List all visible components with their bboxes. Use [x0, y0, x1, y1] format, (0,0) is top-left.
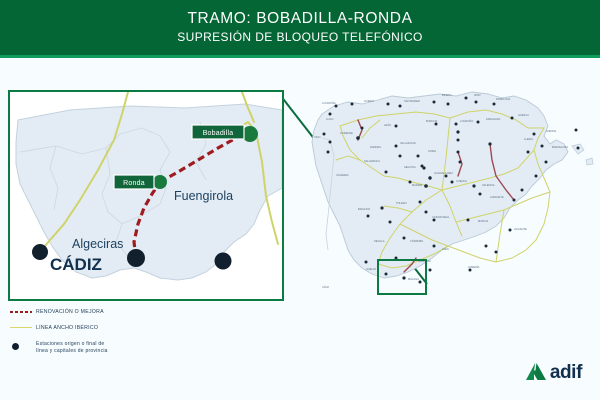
page-subtitle: SUPRESIÓN DE BLOQUEO TELEFÓNICO	[0, 30, 600, 44]
svg-text:BARCELONA: BARCELONA	[552, 145, 568, 149]
svg-text:OVIEDO: OVIEDO	[364, 99, 374, 103]
map-corner-note: CÁDIZ	[322, 286, 329, 289]
legend-label-estaciones-line1: Estaciones origen o final de	[36, 341, 104, 347]
svg-text:CIUDAD REAL: CIUDAD REAL	[432, 215, 450, 219]
legend-item-linea-iberica: LÍNEA ANCHO IBÉRICO	[10, 324, 200, 333]
andalusia-inset-panel: Bobadilla Ronda Fuengirola CÁDIZ Algecir…	[8, 90, 284, 301]
label-ronda-text: Ronda	[123, 180, 145, 187]
svg-text:MÁLAGA: MÁLAGA	[408, 277, 419, 281]
svg-text:BURGOS: BURGOS	[426, 119, 438, 123]
svg-text:SALAMANCA: SALAMANCA	[364, 159, 380, 163]
svg-text:HUESCA: HUESCA	[518, 113, 529, 117]
page-title: TRAMO: BOBADILLA-RONDA	[0, 10, 600, 28]
legend-key-dot-icon	[10, 340, 36, 350]
svg-text:BILBAO: BILBAO	[442, 93, 451, 97]
station-dot-fuengirola	[215, 253, 232, 270]
andalusia-map-svg: Bobadilla Ronda Fuengirola CÁDIZ Algecir…	[10, 92, 282, 299]
svg-text:ALMERÍA: ALMERÍA	[468, 265, 480, 269]
svg-text:CÁCERES: CÁCERES	[336, 173, 349, 177]
label-ronda: Ronda	[114, 175, 154, 189]
svg-text:SEVILLA: SEVILLA	[374, 239, 385, 243]
legend-key-solid-yellow-icon	[10, 324, 36, 329]
label-bobadilla-text: Bobadilla	[203, 130, 234, 137]
label-fuengirola-text: Fuengirola	[174, 189, 233, 203]
svg-text:GIRONA: GIRONA	[546, 129, 557, 133]
svg-text:HUELVA: HUELVA	[366, 267, 376, 271]
adif-arrow-icon	[525, 362, 547, 382]
island-shapes	[572, 144, 593, 165]
legend-label-renovacion: RENOVACIÓN O MEJORA	[36, 308, 104, 317]
svg-text:VIGO: VIGO	[314, 135, 321, 139]
legend-key-dashed-red-icon	[10, 308, 36, 313]
station-dot-cadiz	[32, 244, 48, 260]
label-bobadilla: Bobadilla	[192, 125, 244, 139]
adif-logo-text: adif	[550, 363, 582, 382]
svg-text:TOLEDO: TOLEDO	[396, 201, 407, 205]
legend-label-estaciones: Estaciones origen o final de línea y cap…	[36, 340, 108, 356]
svg-text:MURCIA: MURCIA	[478, 219, 489, 223]
svg-text:OURENSE: OURENSE	[340, 131, 353, 135]
svg-text:ZAMORA: ZAMORA	[370, 145, 381, 149]
legend-label-estaciones-line2: línea y capitales de provincia	[36, 348, 108, 354]
svg-text:LLEIDA: LLEIDA	[524, 137, 533, 141]
svg-text:MADRID: MADRID	[412, 183, 422, 187]
svg-text:ALICANTE: ALICANTE	[514, 227, 527, 231]
legend-item-estaciones: Estaciones origen o final de línea y cap…	[10, 340, 200, 356]
svg-text:ALBACETE: ALBACETE	[490, 195, 504, 199]
station-dot-ronda	[153, 175, 167, 189]
legend-label-linea-iberica: LÍNEA ANCHO IBÉRICO	[36, 324, 98, 333]
slide-canvas: TRAMO: BOBADILLA-RONDA SUPRESIÓN DE BLOQ…	[0, 0, 600, 400]
label-cadiz-text: CÁDIZ	[50, 255, 102, 274]
adif-logo: adif	[525, 362, 582, 382]
legend-item-renovacion: RENOVACIÓN O MEJORA	[10, 308, 200, 317]
svg-text:GUADALAJARA: GUADALAJARA	[434, 171, 453, 175]
svg-text:VALENCIA: VALENCIA	[482, 183, 495, 187]
svg-text:SORIA: SORIA	[428, 149, 436, 153]
svg-text:SEGOVIA: SEGOVIA	[404, 165, 416, 169]
spain-rail-network-map: A CORUÑA VIGO OURENSE OVIEDO SANTANDER B…	[300, 82, 595, 312]
station-dot-algeciras	[127, 249, 145, 267]
label-algeciras-text: Algeciras	[72, 237, 123, 251]
svg-text:CUENCA: CUENCA	[456, 179, 467, 183]
svg-text:A CORUÑA: A CORUÑA	[322, 100, 336, 105]
svg-text:PAMPLONA: PAMPLONA	[496, 97, 510, 101]
map-legend: RENOVACIÓN O MEJORA LÍNEA ANCHO IBÉRICO …	[10, 308, 200, 363]
svg-text:SANTANDER: SANTANDER	[404, 99, 420, 103]
svg-text:VALLADOLID: VALLADOLID	[400, 141, 416, 145]
svg-text:BADAJOZ: BADAJOZ	[358, 207, 370, 211]
svg-text:ZARAGOZA: ZARAGOZA	[486, 117, 501, 121]
svg-text:LUGO: LUGO	[326, 117, 333, 121]
